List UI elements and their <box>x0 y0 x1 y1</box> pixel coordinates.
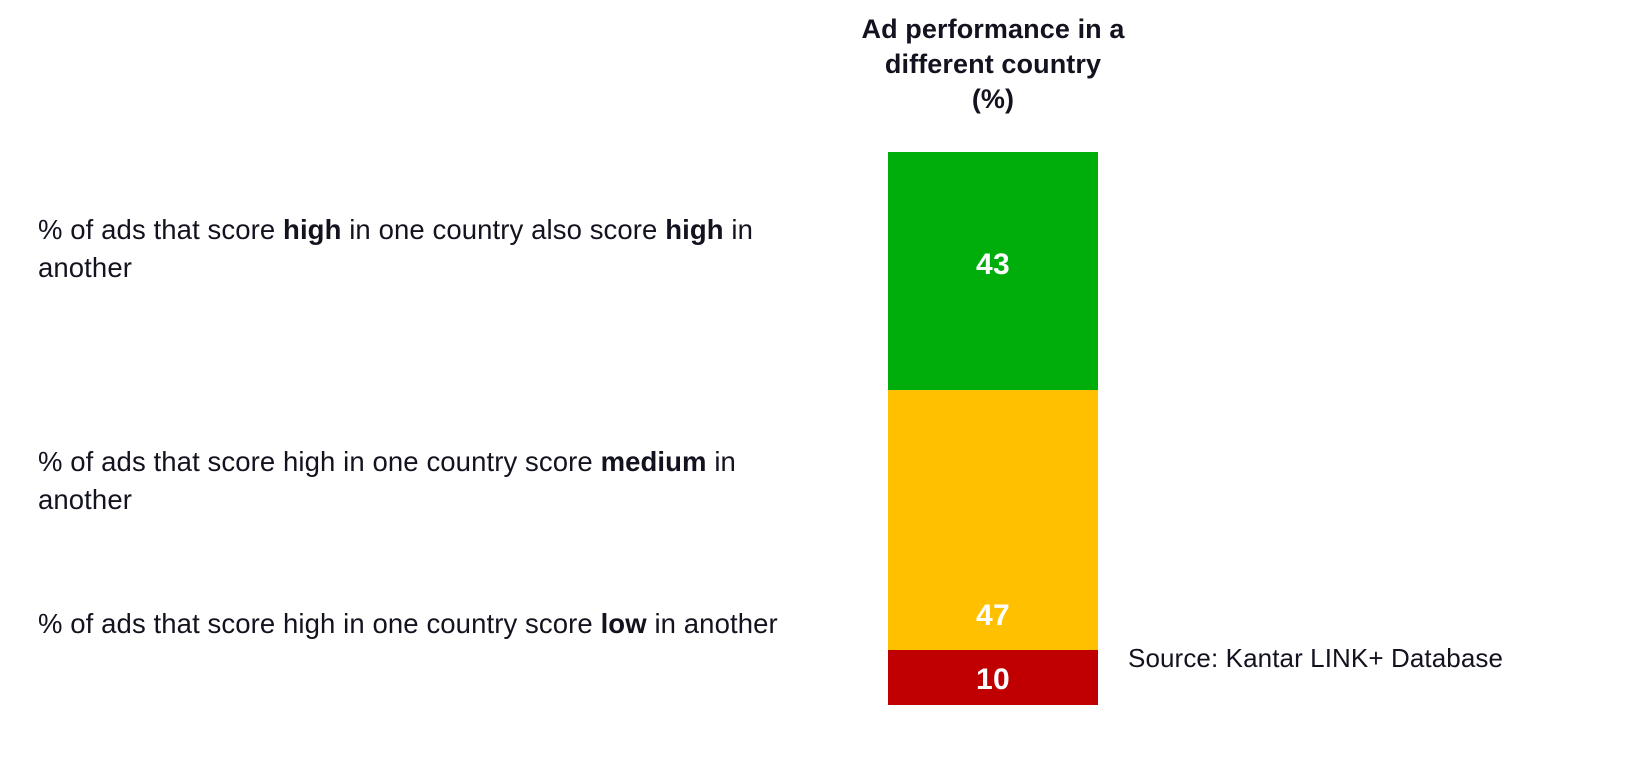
chart-title-line-2: different country <box>788 47 1198 82</box>
legend-high-text-part2: in one country also score <box>341 214 665 245</box>
legend-medium-emphasis1: medium <box>601 446 707 477</box>
chart-title: Ad performance in a different country (%… <box>788 12 1198 117</box>
chart-title-line-1: Ad performance in a <box>788 12 1198 47</box>
legend-low-emphasis1: low <box>601 608 647 639</box>
source-note: Source: Kantar LINK+ Database <box>1128 641 1503 675</box>
legend-low-text-part1: % of ads that score high in one country … <box>38 608 601 639</box>
legend-high-text-part1: % of ads that score <box>38 214 283 245</box>
bar-segment-high: 43 <box>888 152 1098 390</box>
legend-medium-text-part1: % of ads that score high in one country … <box>38 446 601 477</box>
chart-canvas: Ad performance in a different country (%… <box>0 0 1644 757</box>
bar-value-label-medium: 47 <box>888 601 1098 631</box>
legend-column: % of ads that score high in one country … <box>38 0 798 757</box>
legend-low-text-part2: in another <box>647 608 778 639</box>
stacked-bar: 43 47 10 <box>888 152 1098 705</box>
legend-item-high: % of ads that score high in one country … <box>38 211 790 287</box>
bar-segment-medium: 47 <box>888 390 1098 650</box>
bar-value-label-low: 10 <box>888 665 1098 695</box>
bar-value-label-high: 43 <box>888 250 1098 280</box>
chart-title-line-3: (%) <box>788 82 1198 117</box>
legend-high-emphasis2: high <box>665 214 723 245</box>
legend-item-low: % of ads that score high in one country … <box>38 605 790 643</box>
legend-item-medium: % of ads that score high in one country … <box>38 443 790 519</box>
bar-segment-low: 10 <box>888 650 1098 705</box>
legend-high-emphasis1: high <box>283 214 341 245</box>
